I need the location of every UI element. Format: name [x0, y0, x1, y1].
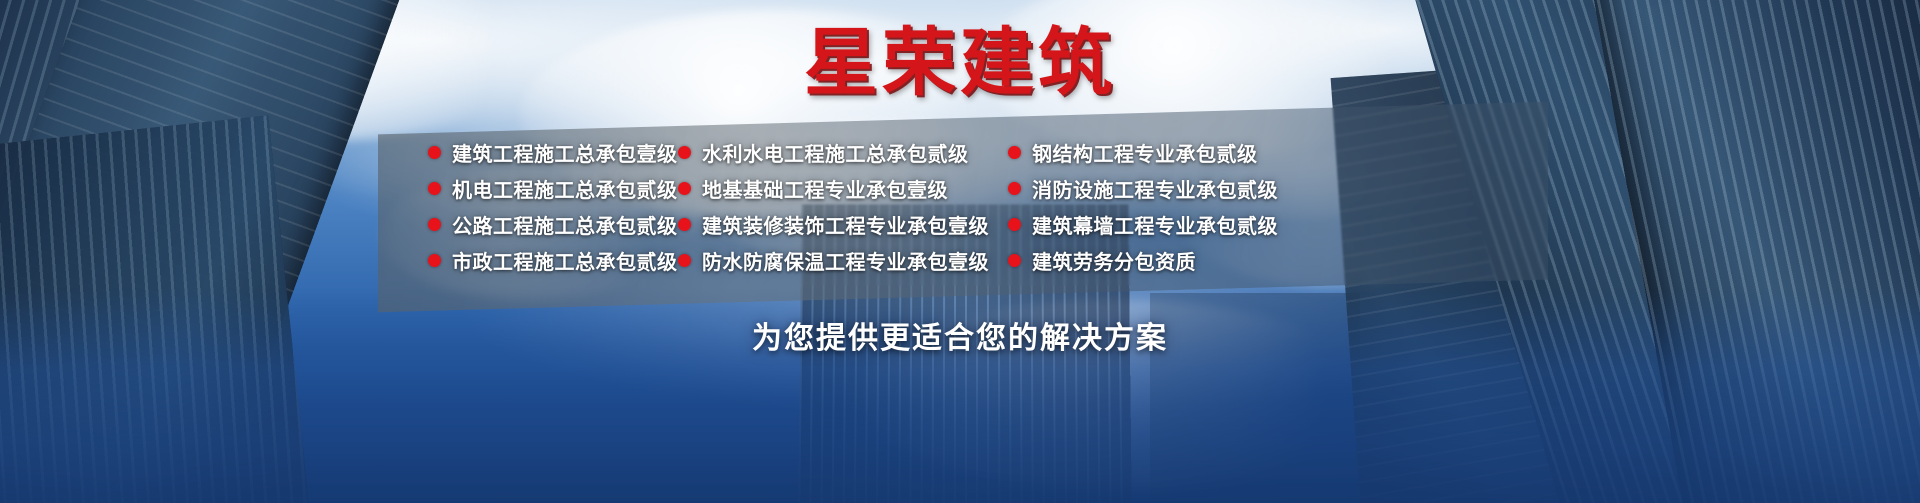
qualification-label: 建筑劳务分包资质 [1032, 246, 1196, 275]
qualification-label: 水利水电工程施工总承包贰级 [702, 138, 969, 167]
qualification-label: 防水防腐保温工程专业承包壹级 [702, 246, 989, 275]
qualification-label: 地基基础工程专业承包壹级 [702, 174, 948, 203]
list-item: 地基基础工程专业承包壹级 [678, 170, 994, 206]
company-hero-banner: 星荣建筑 建筑工程施工总承包壹级 机电工程施工总承包贰级 公路工程施工总承包贰级 [0, 0, 1920, 503]
red-dot-icon [678, 218, 691, 231]
list-item: 钢结构工程专业承包贰级 [1008, 134, 1324, 170]
list-item: 建筑装修装饰工程专业承包壹级 [678, 206, 994, 242]
qualification-label: 消防设施工程专业承包贰级 [1032, 174, 1278, 203]
qualification-column-1: 建筑工程施工总承包壹级 机电工程施工总承包贰级 公路工程施工总承包贰级 市政工程… [378, 134, 664, 296]
list-item: 公路工程施工总承包贰级 [428, 206, 664, 242]
qualification-label: 建筑工程施工总承包壹级 [452, 138, 678, 167]
qualification-label: 建筑装修装饰工程专业承包壹级 [702, 210, 989, 239]
qualification-label: 公路工程施工总承包贰级 [452, 210, 678, 239]
red-dot-icon [1008, 254, 1021, 267]
red-dot-icon [678, 146, 691, 159]
list-item: 建筑幕墙工程专业承包贰级 [1008, 206, 1324, 242]
qualification-label: 钢结构工程专业承包贰级 [1032, 138, 1258, 167]
red-dot-icon [1008, 146, 1021, 159]
list-item: 建筑劳务分包资质 [1008, 242, 1324, 278]
company-name-title: 星荣建筑 [0, 26, 1920, 100]
list-item: 水利水电工程施工总承包贰级 [678, 134, 994, 170]
list-item: 消防设施工程专业承包贰级 [1008, 170, 1324, 206]
qualification-label: 建筑幕墙工程专业承包贰级 [1032, 210, 1278, 239]
red-dot-icon [678, 182, 691, 195]
qualification-label: 机电工程施工总承包贰级 [452, 174, 678, 203]
left-building-facade-c [0, 116, 323, 503]
red-dot-icon [1008, 182, 1021, 195]
qualifications-panel: 建筑工程施工总承包壹级 机电工程施工总承包贰级 公路工程施工总承包贰级 市政工程… [378, 102, 1548, 313]
list-item: 机电工程施工总承包贰级 [428, 170, 664, 206]
red-dot-icon [1008, 218, 1021, 231]
left-building-window-grid-c [0, 116, 323, 503]
qualification-label: 市政工程施工总承包贰级 [452, 246, 678, 275]
list-item: 建筑工程施工总承包壹级 [428, 134, 664, 170]
banner-tagline: 为您提供更适合您的解决方案 [0, 313, 1920, 357]
red-dot-icon [428, 218, 441, 231]
list-item: 市政工程施工总承包贰级 [428, 242, 664, 278]
list-item: 防水防腐保温工程专业承包壹级 [678, 242, 994, 278]
red-dot-icon [678, 254, 691, 267]
qualification-column-3: 钢结构工程专业承包贰级 消防设施工程专业承包贰级 建筑幕墙工程专业承包贰级 建筑… [994, 134, 1324, 296]
red-dot-icon [428, 254, 441, 267]
qualifications-panel-content: 建筑工程施工总承包壹级 机电工程施工总承包贰级 公路工程施工总承包贰级 市政工程… [378, 118, 1548, 296]
qualification-column-2: 水利水电工程施工总承包贰级 地基基础工程专业承包壹级 建筑装修装饰工程专业承包壹… [664, 134, 994, 296]
red-dot-icon [428, 182, 441, 195]
red-dot-icon [428, 146, 441, 159]
